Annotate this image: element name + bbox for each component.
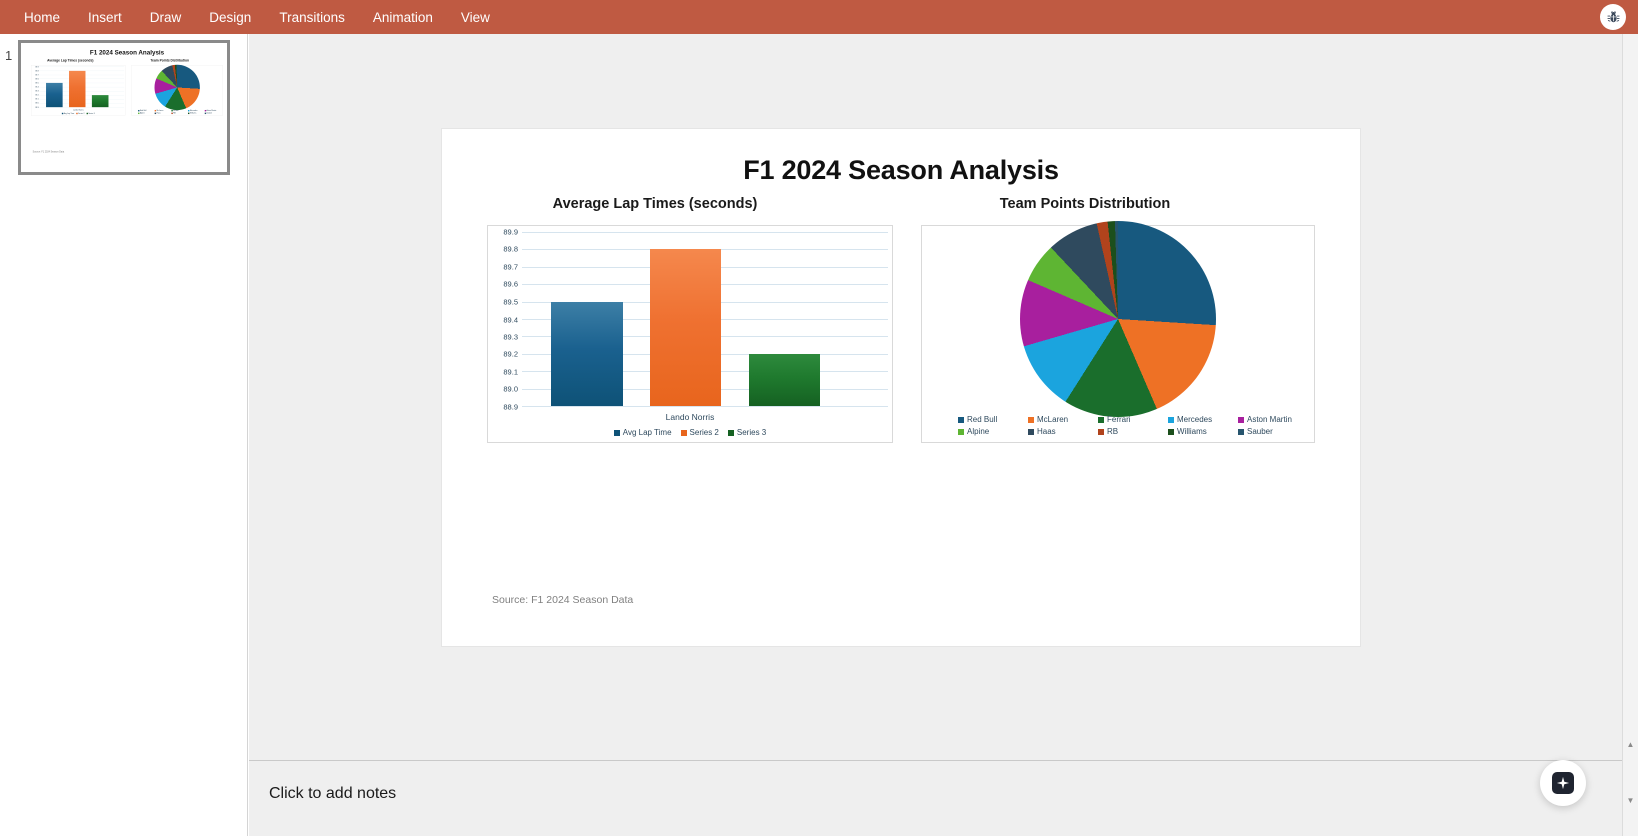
legend-entry: Haas bbox=[1028, 427, 1056, 436]
legend-label: Avg Lap Time bbox=[64, 112, 74, 114]
sparkle-icon-container bbox=[1552, 772, 1574, 794]
legend-entry: Sauber bbox=[205, 112, 222, 114]
sparkle-icon bbox=[1556, 776, 1570, 790]
bar-chart-y-tick: 89.5 bbox=[35, 82, 38, 84]
legend-entry: Mercedes bbox=[188, 110, 205, 112]
bar-chart-bar[interactable] bbox=[46, 83, 63, 107]
legend-label: Sauber bbox=[1247, 427, 1273, 436]
bar-chart-y-tick: 89.1 bbox=[503, 367, 518, 376]
legend-entry: Series 2 bbox=[76, 112, 84, 114]
legend-label: Williams bbox=[1177, 427, 1207, 436]
slide-thumbnail-item[interactable]: F1 2024 Season Analysis Average Lap Time… bbox=[18, 40, 230, 175]
bar-chart-bar[interactable] bbox=[749, 354, 820, 406]
legend-label: Alpine bbox=[140, 112, 145, 114]
vertical-scrollbar[interactable]: ▲ ▼ bbox=[1622, 34, 1638, 836]
bar-chart-bar[interactable] bbox=[551, 302, 622, 406]
top-menu-bar: Home Insert Draw Design Transitions Anim… bbox=[0, 0, 1638, 34]
bar-chart-y-tick: 89.2 bbox=[35, 94, 38, 96]
legend-entry: RB bbox=[1098, 427, 1118, 436]
legend-label: Williams bbox=[190, 112, 196, 114]
pie-chart[interactable]: Red BullMcLarenFerrariMercedesAston Mart… bbox=[921, 225, 1315, 443]
bar-chart-y-tick: 89.8 bbox=[503, 245, 518, 254]
thumb-bar-cat: Lando Norris bbox=[31, 109, 125, 111]
legend-label: Red Bull bbox=[967, 415, 997, 424]
thumb-source-note: Source: F1 2024 Season Data bbox=[33, 151, 65, 154]
legend-label: Haas bbox=[1037, 427, 1056, 436]
bar-chart-legend: Avg Lap TimeSeries 2Series 3 bbox=[488, 428, 892, 437]
pie-graphic bbox=[1020, 221, 1216, 417]
bar-chart-category-label: Lando Norris bbox=[488, 412, 892, 422]
legend-entry: Alpine bbox=[138, 112, 155, 114]
bar-chart-y-tick: 89.6 bbox=[35, 78, 38, 80]
legend-swatch bbox=[728, 430, 734, 436]
legend-entry: McLaren bbox=[155, 110, 172, 112]
pie-chart-plot-area bbox=[922, 230, 1314, 408]
legend-swatch bbox=[1028, 429, 1034, 435]
slide-number-label: 1 bbox=[5, 48, 12, 63]
legend-swatch bbox=[1098, 429, 1104, 435]
slide-thumbnail-1[interactable]: F1 2024 Season Analysis Average Lap Time… bbox=[18, 40, 230, 175]
slide-title[interactable]: F1 2024 Season Analysis bbox=[442, 155, 1360, 186]
legend-label: McLaren bbox=[157, 110, 164, 112]
legend-label: Alpine bbox=[967, 427, 989, 436]
slide-thumbnail-content: F1 2024 Season Analysis Average Lap Time… bbox=[21, 43, 53, 63]
legend-label: Aston Martin bbox=[1247, 415, 1292, 424]
bar-chart-y-tick: 89.4 bbox=[503, 315, 518, 324]
legend-label: Ferrari bbox=[1107, 415, 1131, 424]
legend-label: Sauber bbox=[207, 112, 213, 114]
bar-chart-y-tick: 89.2 bbox=[503, 350, 518, 359]
legend-entry: Alpine bbox=[958, 427, 989, 436]
bar-chart-y-tick: 89.5 bbox=[503, 297, 518, 306]
legend-swatch bbox=[958, 417, 964, 423]
legend-swatch bbox=[1168, 417, 1174, 423]
legend-entry: Williams bbox=[188, 112, 205, 114]
thumb-pie-title: Team Points Distribution bbox=[123, 58, 217, 62]
legend-swatch bbox=[681, 430, 687, 436]
notes-placeholder[interactable]: Click to add notes bbox=[269, 785, 396, 803]
bar-chart-y-tick: 88.9 bbox=[503, 403, 518, 412]
bar-chart[interactable]: 89.989.889.789.689.589.489.389.289.189.0… bbox=[487, 225, 893, 443]
legend-entry: Series 2 bbox=[681, 428, 719, 437]
bar-chart-plot-area: 89.989.889.789.689.589.489.389.289.189.0… bbox=[522, 232, 888, 406]
bar-chart-y-tick: 89.4 bbox=[35, 86, 38, 88]
bar-chart-title: Average Lap Times (seconds) bbox=[452, 196, 858, 212]
slide-thumbnail-panel: 1 F1 2024 Season Analysis Average Lap Ti… bbox=[0, 34, 248, 836]
menu-item-animation[interactable]: Animation bbox=[359, 4, 447, 31]
legend-swatch bbox=[1238, 429, 1244, 435]
legend-swatch bbox=[958, 429, 964, 435]
legend-label: Series 3 bbox=[737, 428, 766, 437]
legend-entry: Sauber bbox=[1238, 427, 1273, 436]
legend-swatch bbox=[1028, 417, 1034, 423]
legend-entry: Red Bull bbox=[958, 415, 997, 424]
pie-chart-legend: Red BullMcLarenFerrariMercedesAston Mart… bbox=[928, 415, 1308, 436]
legend-label: Series 3 bbox=[88, 112, 94, 114]
ai-assistant-button[interactable] bbox=[1540, 760, 1586, 806]
legend-label: Mercedes bbox=[1177, 415, 1212, 424]
legend-label: Ferrari bbox=[173, 110, 178, 112]
bar-chart-y-tick: 89.6 bbox=[503, 280, 518, 289]
menu-item-insert[interactable]: Insert bbox=[74, 4, 136, 31]
bar-chart-y-tick: 89.3 bbox=[35, 90, 38, 92]
menu-item-draw[interactable]: Draw bbox=[136, 4, 196, 31]
legend-entry: RB bbox=[171, 112, 188, 114]
bar-chart-y-tick: 89.0 bbox=[503, 385, 518, 394]
legend-label: RB bbox=[173, 112, 175, 114]
legend-swatch bbox=[1098, 417, 1104, 423]
powerpoint-editor-window: Home Insert Draw Design Transitions Anim… bbox=[0, 0, 1638, 836]
bar-chart-y-tick: 89.3 bbox=[503, 332, 518, 341]
legend-label: Red Bull bbox=[140, 110, 147, 112]
bar-chart-bar[interactable] bbox=[650, 249, 721, 406]
bar-chart-y-tick: 89.7 bbox=[503, 262, 518, 271]
legend-label: Series 2 bbox=[78, 112, 84, 114]
slide-canvas-area[interactable]: F1 2024 Season Analysis Average Lap Time… bbox=[249, 34, 1638, 760]
bug-icon-button[interactable] bbox=[1600, 4, 1626, 30]
source-note: Source: F1 2024 Season Data bbox=[492, 594, 633, 606]
slide-editing-surface[interactable]: F1 2024 Season Analysis Average Lap Time… bbox=[442, 129, 1360, 646]
bar-chart-y-tick: 89.0 bbox=[35, 102, 38, 104]
legend-entry: Avg Lap Time bbox=[62, 112, 74, 114]
legend-swatch bbox=[614, 430, 620, 436]
thumb-bar-title: Average Lap Times (seconds) bbox=[23, 58, 117, 62]
scroll-down-arrow[interactable]: ▼ bbox=[1623, 792, 1638, 808]
legend-entry: Ferrari bbox=[171, 110, 188, 112]
legend-entry: Mercedes bbox=[1168, 415, 1212, 424]
bar-chart-bar[interactable] bbox=[69, 71, 86, 107]
legend-swatch bbox=[1238, 417, 1244, 423]
menu-item-design[interactable]: Design bbox=[195, 4, 265, 31]
bar-chart-y-tick: 89.1 bbox=[35, 98, 38, 100]
bar-chart-y-tick: 89.8 bbox=[35, 70, 38, 72]
legend-swatch bbox=[1168, 429, 1174, 435]
legend-label: Aston Martin bbox=[207, 110, 217, 112]
menu-item-view[interactable]: View bbox=[447, 4, 504, 31]
scroll-up-arrow[interactable]: ▲ bbox=[1623, 736, 1638, 752]
legend-entry: Avg Lap Time bbox=[614, 428, 672, 437]
legend-label: Mercedes bbox=[190, 110, 198, 112]
legend-entry: Series 3 bbox=[728, 428, 766, 437]
legend-entry: Aston Martin bbox=[205, 110, 222, 112]
menu-item-home[interactable]: Home bbox=[10, 4, 74, 31]
legend-entry: Williams bbox=[1168, 427, 1207, 436]
legend-entry: Haas bbox=[155, 112, 172, 114]
canvas-bottom-strip bbox=[249, 745, 1638, 760]
thumb-slide-title: F1 2024 Season Analysis bbox=[21, 49, 230, 56]
bar-chart-bar[interactable] bbox=[92, 95, 109, 107]
legend-entry: Ferrari bbox=[1098, 415, 1131, 424]
bar-chart-gridline: 88.9 bbox=[522, 406, 888, 407]
menu-item-transitions[interactable]: Transitions bbox=[265, 4, 359, 31]
pie-chart-title: Team Points Distribution bbox=[882, 196, 1288, 212]
bar-chart-y-tick: 89.9 bbox=[503, 228, 518, 237]
notes-pane[interactable]: Click to add notes bbox=[249, 760, 1638, 836]
legend-entry: Series 3 bbox=[87, 112, 95, 114]
bar-chart-y-tick: 89.9 bbox=[35, 66, 38, 68]
legend-entry: Aston Martin bbox=[1238, 415, 1292, 424]
legend-label: Avg Lap Time bbox=[623, 428, 672, 437]
bar-chart-y-tick: 89.7 bbox=[35, 74, 38, 76]
legend-label: McLaren bbox=[1037, 415, 1068, 424]
legend-entry: Red Bull bbox=[138, 110, 155, 112]
legend-label: Series 2 bbox=[690, 428, 719, 437]
legend-entry: McLaren bbox=[1028, 415, 1068, 424]
legend-label: Haas bbox=[157, 112, 161, 114]
bug-icon bbox=[1606, 10, 1621, 25]
bar-chart-gridline: 89.9 bbox=[522, 232, 888, 233]
legend-label: RB bbox=[1107, 427, 1118, 436]
